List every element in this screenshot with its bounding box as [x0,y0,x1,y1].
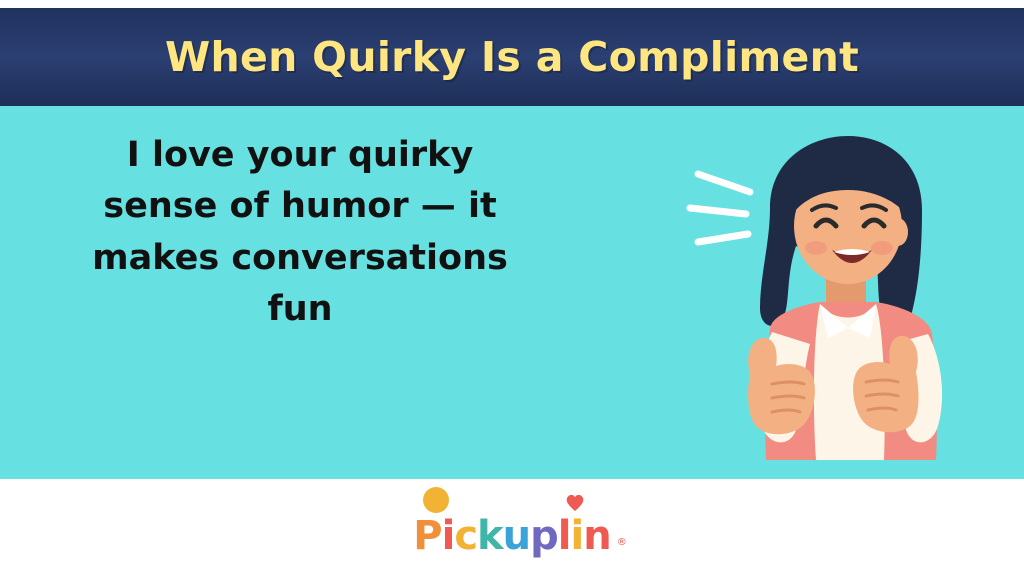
left-cheek [805,241,827,255]
page-title: When Quirky Is a Compliment [165,33,859,81]
logo-letter-p1: P [413,516,441,556]
logo-letter-u: u [503,516,530,556]
card-body: I love your quirky sense of humor — it m… [0,106,1024,479]
trademark-symbol: ® [617,537,627,548]
right-cheek [871,241,893,255]
quote-text: I love your quirky sense of humor — it m… [78,130,522,336]
logo-letter-i: i [442,516,455,556]
header-banner: When Quirky Is a Compliment [0,8,1024,106]
logo-letter-l: l [558,516,571,556]
woman-giving-thumbs-up-illustration [620,116,980,476]
logo-letter-k: k [477,516,503,556]
pickuplin-logo[interactable]: P i c k u p l i n ® [413,500,610,556]
pickup-line-card: When Quirky Is a Compliment I love your … [0,0,1024,576]
smiley-icon [423,487,449,513]
heart-icon [563,490,587,514]
ear [888,218,908,246]
motion-lines-icon [690,174,750,242]
logo-letter-n: n [583,516,610,556]
footer-bar: P i c k u p l i n ® [0,479,1024,576]
logo-letter-c: c [454,516,477,556]
logo-letter-p2: p [530,516,558,556]
logo-letter-i2: i [571,516,584,556]
